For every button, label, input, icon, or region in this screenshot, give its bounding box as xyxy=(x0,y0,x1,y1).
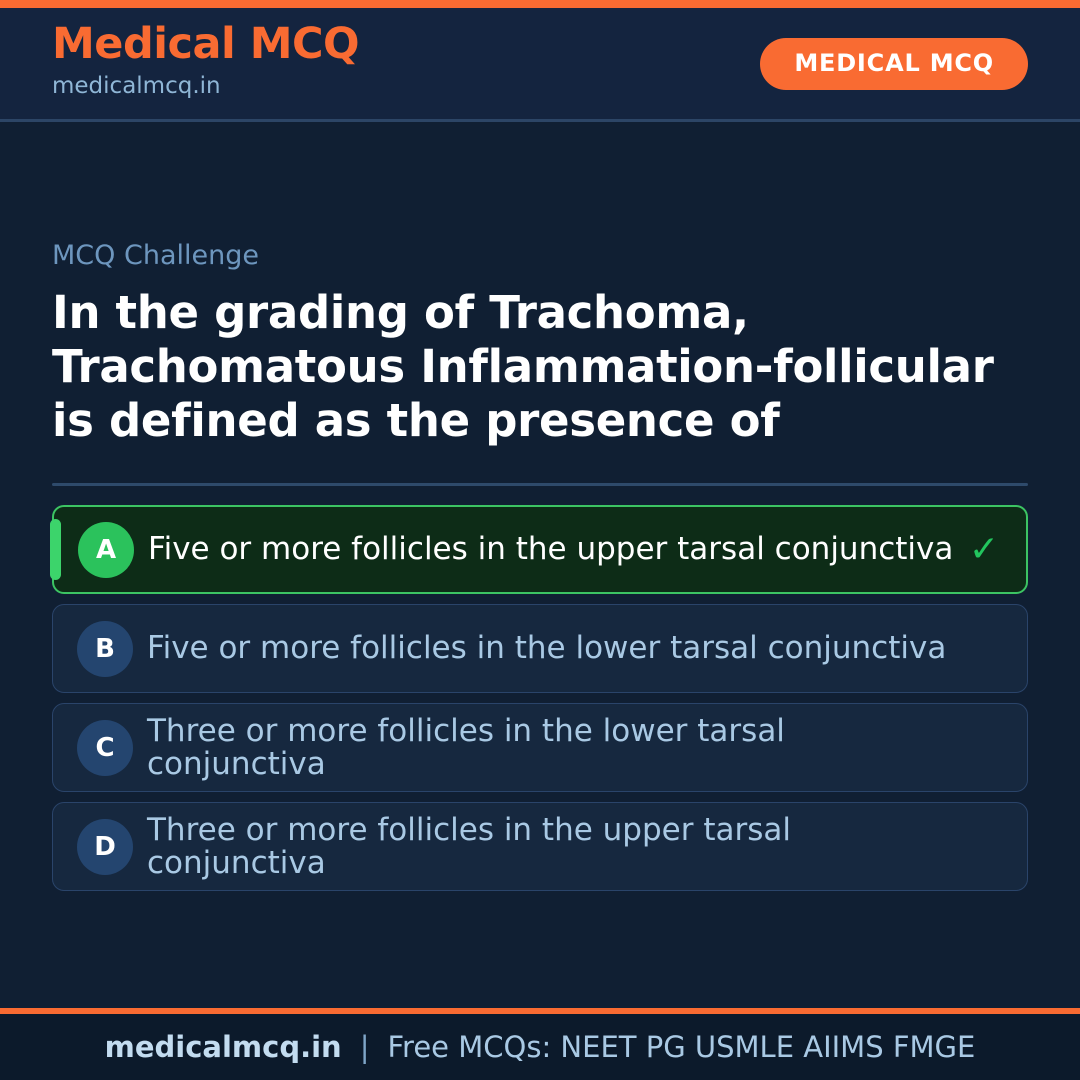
footer-content: medicalmcq.in | Free MCQs: NEET PG USMLE… xyxy=(105,1033,976,1062)
option-text: Three or more follicles in the lower tar… xyxy=(147,715,965,781)
correct-accent-bar xyxy=(50,519,61,580)
content-area: MCQ Challenge In the grading of Trachoma… xyxy=(0,122,1080,1008)
option-letter-badge: D xyxy=(77,819,133,875)
option-row-a[interactable]: A Five or more follicles in the upper ta… xyxy=(52,505,1028,594)
header: Medical MCQ medicalmcq.in MEDICAL MCQ xyxy=(0,8,1080,122)
option-row-b[interactable]: B Five or more follicles in the lower ta… xyxy=(52,604,1028,693)
footer-site-link[interactable]: medicalmcq.in xyxy=(105,1033,342,1062)
check-icon: ✓ xyxy=(964,532,1004,568)
option-text: Five or more follicles in the lower tars… xyxy=(147,632,965,665)
mcq-card: Medical MCQ medicalmcq.in MEDICAL MCQ MC… xyxy=(0,0,1080,1080)
eyebrow-label: MCQ Challenge xyxy=(52,240,1028,272)
footer-separator: | xyxy=(360,1033,370,1062)
option-letter-badge: C xyxy=(77,720,133,776)
footer-exam-list: Free MCQs: NEET PG USMLE AIIMS FMGE xyxy=(387,1033,975,1062)
header-badge: MEDICAL MCQ xyxy=(760,38,1028,90)
option-text: Three or more follicles in the upper tar… xyxy=(147,814,965,880)
option-row-c[interactable]: C Three or more follicles in the lower t… xyxy=(52,703,1028,792)
brand-block: Medical MCQ medicalmcq.in xyxy=(52,22,359,104)
option-letter-badge: B xyxy=(77,621,133,677)
brand-subtitle: medicalmcq.in xyxy=(52,69,359,104)
footer: medicalmcq.in | Free MCQs: NEET PG USMLE… xyxy=(0,1008,1080,1080)
option-text: Five or more follicles in the upper tars… xyxy=(148,533,964,566)
question-text: In the grading of Trachoma, Trachomatous… xyxy=(52,286,1027,448)
options-list: A Five or more follicles in the upper ta… xyxy=(52,505,1028,891)
option-letter-badge: A xyxy=(78,522,134,578)
top-accent-bar xyxy=(0,0,1080,8)
question-divider xyxy=(52,483,1028,486)
option-row-d[interactable]: D Three or more follicles in the upper t… xyxy=(52,802,1028,891)
brand-title: Medical MCQ xyxy=(52,22,359,67)
